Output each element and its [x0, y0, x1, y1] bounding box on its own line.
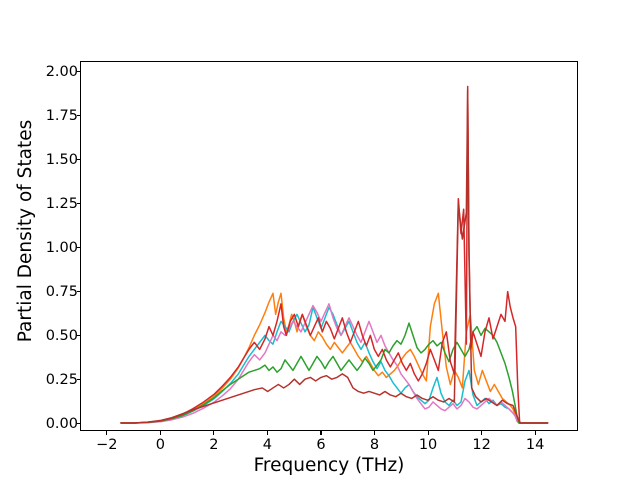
x-tick-label: 12 [472, 437, 490, 453]
x-tick-label: 2 [209, 437, 218, 453]
x-tick-label: 4 [263, 437, 272, 453]
series-line [121, 307, 548, 423]
figure: Partial Density of States −2024681012140… [0, 0, 640, 480]
y-tick-label: 0.25 [46, 372, 78, 388]
x-tick-mark [213, 431, 214, 435]
y-tick-label: 1.75 [46, 108, 78, 124]
x-tick-label: −2 [96, 437, 117, 453]
y-tick-label: 1.00 [46, 240, 78, 256]
x-tick-label: 14 [526, 437, 544, 453]
y-tick-label: 0.00 [46, 416, 78, 432]
y-tick-label: 0.50 [46, 328, 78, 344]
x-tick-mark [267, 431, 268, 435]
plot-lines [81, 62, 577, 430]
series-line [121, 304, 548, 423]
plot-axes [80, 61, 578, 431]
x-tick-label: 10 [419, 437, 437, 453]
x-tick-mark [374, 431, 375, 435]
x-tick-label: 0 [156, 437, 165, 453]
x-tick-mark [160, 431, 161, 435]
x-tick-label: 8 [370, 437, 379, 453]
x-tick-mark [428, 431, 429, 435]
y-tick-label: 1.25 [46, 196, 78, 212]
y-tick-label: 2.00 [46, 64, 78, 80]
x-tick-mark [106, 431, 107, 435]
y-tick-label: 0.75 [46, 284, 78, 300]
x-tick-mark [481, 431, 482, 435]
x-tick-label: 6 [316, 437, 325, 453]
x-tick-mark [320, 431, 321, 435]
x-axis-label: Frequency (THz) [80, 455, 578, 476]
x-tick-mark [535, 431, 536, 435]
y-axis-label: Partial Density of States [14, 46, 38, 416]
y-tick-label: 1.50 [46, 152, 78, 168]
